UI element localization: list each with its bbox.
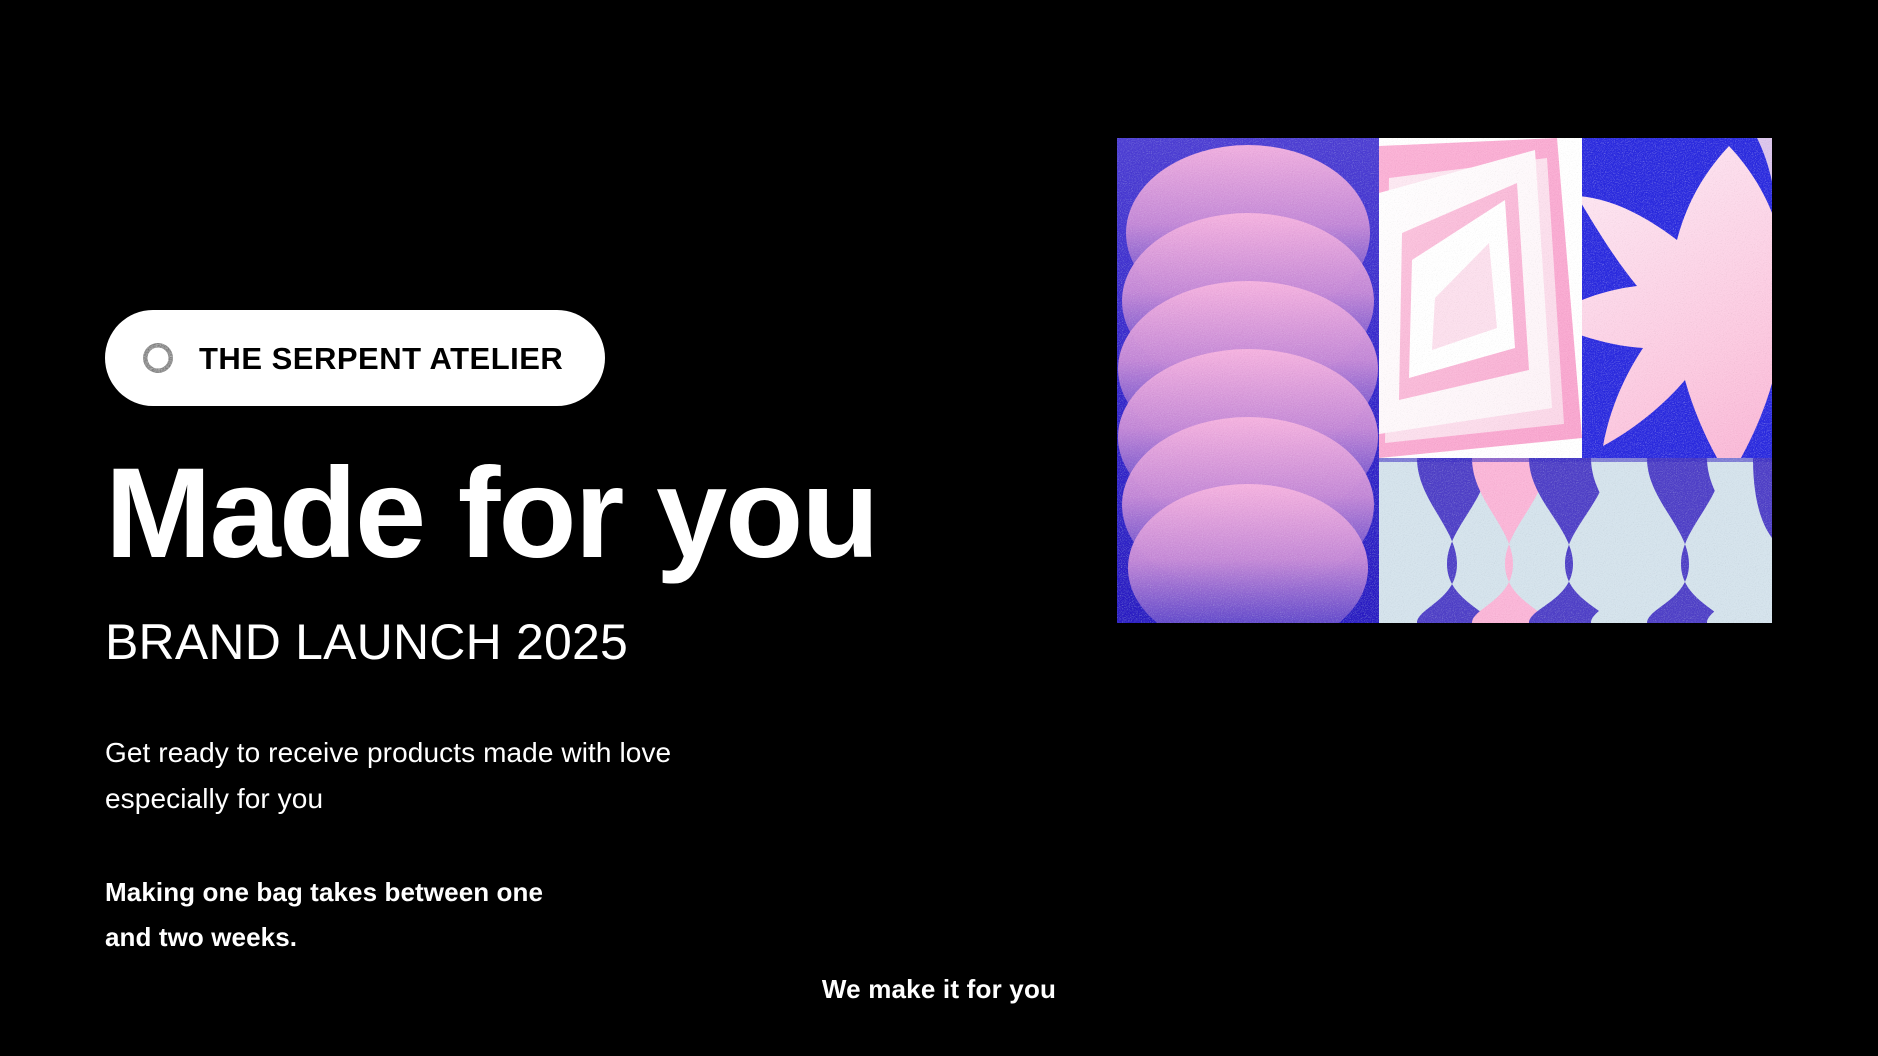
dotted-ring-icon [139,339,177,377]
hero-content: THE SERPENT ATELIER Made for you BRAND L… [105,0,1005,1056]
note-copy-line-1: Making one bag takes between one [105,870,543,915]
note-copy: Making one bag takes between one and two… [105,870,543,960]
page-subtitle: BRAND LAUNCH 2025 [105,617,628,667]
body-copy-line-1: Get ready to receive products made with … [105,730,671,776]
body-copy: Get ready to receive products made with … [105,730,671,822]
note-copy-line-2: and two weeks. [105,915,543,960]
wave-stripes-panel [1379,458,1772,623]
nested-diamond-panel [1379,138,1582,458]
brand-pill[interactable]: THE SERPENT ATELIER [105,310,605,406]
stacked-orbs-panel [1117,138,1379,623]
footer-tagline: We make it for you [0,974,1878,1005]
body-copy-line-2: especially for you [105,776,671,822]
brand-name: THE SERPENT ATELIER [199,343,563,374]
artwork-collage [1117,138,1772,623]
page-title: Made for you [105,450,878,578]
